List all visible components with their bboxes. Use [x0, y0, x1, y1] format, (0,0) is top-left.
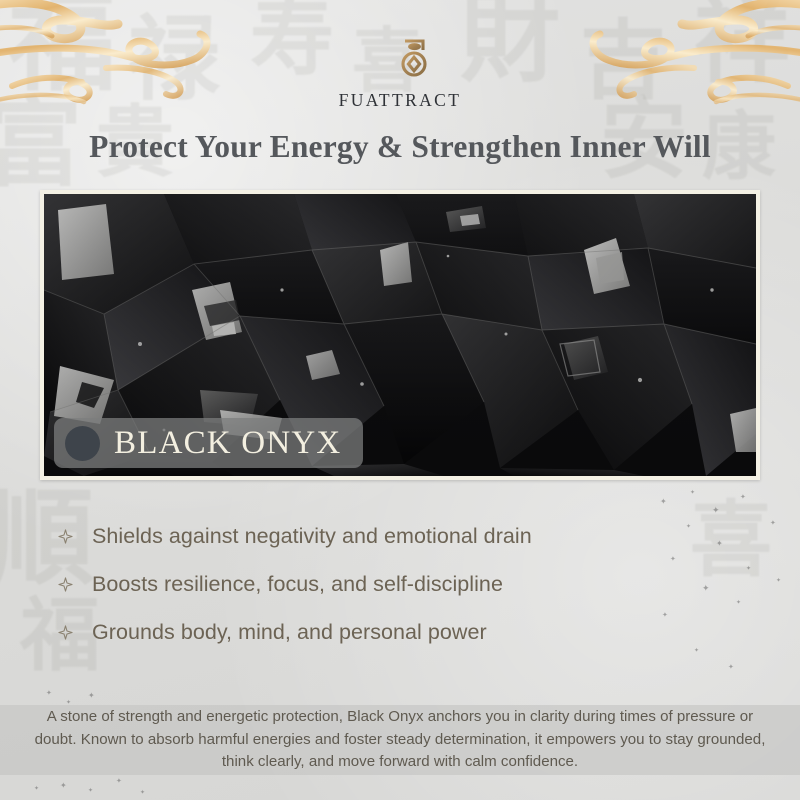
black-onyx-photo: BLACK ONYX: [44, 194, 756, 476]
list-item: Grounds body, mind, and personal power: [58, 620, 532, 645]
stone-color-swatch-icon: [65, 426, 100, 461]
description-band: A stone of strength and energetic protec…: [0, 705, 800, 775]
sparkle-speck: ✦: [662, 612, 668, 619]
sparkle-speck: ✦: [690, 490, 695, 496]
sparkle-speck: ✦: [46, 690, 52, 697]
stone-label-pill: BLACK ONYX: [54, 418, 363, 468]
benefit-text: Grounds body, mind, and personal power: [92, 620, 487, 645]
sparkle-speck: ✦: [60, 782, 67, 790]
sparkle-speck: ✦: [770, 520, 776, 527]
sparkle-speck: ✦: [694, 648, 699, 654]
sparkle-speck: ✦: [34, 786, 39, 792]
sparkle-speck: ✦: [88, 692, 95, 700]
list-item: Shields against negativity and emotional…: [58, 524, 532, 549]
sparkle-speck: ✦: [116, 778, 122, 785]
stone-name: BLACK ONYX: [114, 427, 341, 460]
sparkle-speck: ✦: [746, 566, 751, 572]
watermark-glyph: 喜: [690, 500, 772, 582]
sparkle-speck: ✦: [716, 540, 723, 548]
list-item: Boosts resilience, focus, and self-disci…: [58, 572, 532, 597]
brand-name: FUATTRACT: [339, 90, 462, 111]
sparkle-icon: [58, 529, 73, 544]
sparkle-icon: [58, 577, 73, 592]
fuattract-logo-mark-icon: [372, 34, 428, 85]
sparkle-speck: ✦: [736, 600, 741, 606]
hero-image-frame: BLACK ONYX: [40, 190, 760, 480]
sparkle-speck: ✦: [728, 664, 734, 671]
sparkle-speck: ✦: [712, 506, 720, 515]
sparkle-speck: ✦: [702, 584, 710, 593]
benefit-text: Boosts resilience, focus, and self-disci…: [92, 572, 503, 597]
sparkle-speck: ✦: [88, 788, 93, 794]
sparkle-speck: ✦: [660, 498, 667, 506]
description-text: A stone of strength and energetic protec…: [24, 706, 776, 775]
page-title: Protect Your Energy & Strengthen Inner W…: [0, 129, 800, 165]
sparkle-icon: [58, 625, 73, 640]
brand-header: FUATTRACT: [0, 34, 800, 111]
sparkle-speck: ✦: [686, 524, 691, 530]
sparkle-speck: ✦: [740, 494, 746, 501]
poster-canvas: 福 禄 寿 喜 財 吉 祥 富 貴 安 康 順 福 喜: [0, 0, 800, 800]
benefit-text: Shields against negativity and emotional…: [92, 524, 532, 549]
sparkle-speck: ✦: [670, 556, 676, 563]
sparkle-speck: ✦: [776, 578, 781, 584]
benefits-list: Shields against negativity and emotional…: [58, 524, 532, 645]
sparkle-speck: ✦: [140, 790, 145, 796]
